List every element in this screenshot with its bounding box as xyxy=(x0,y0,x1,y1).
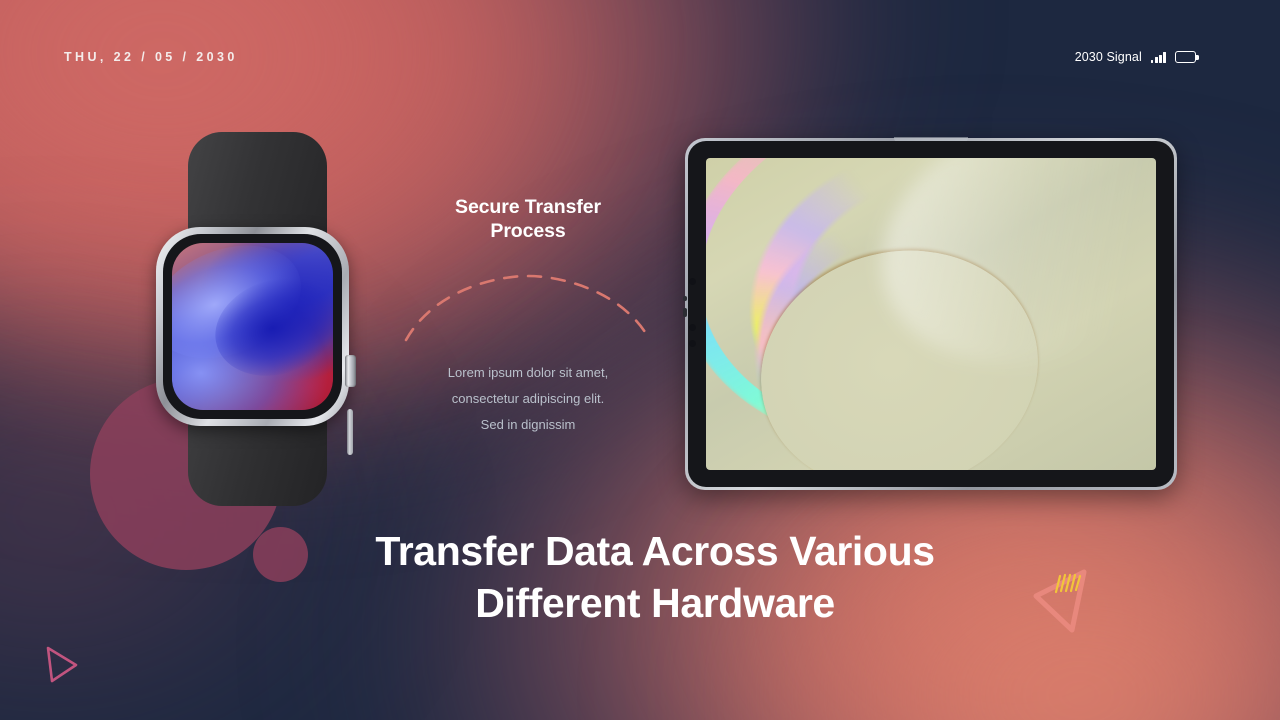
decor-circle-small xyxy=(253,527,308,582)
section-heading: Secure Transfer Process xyxy=(398,196,658,243)
triangle-outline-left-pointing xyxy=(1026,560,1096,645)
presentation-slide: THU, 22 / 05 / 2030 2030 Signal xyxy=(0,0,1280,720)
tablet-mic xyxy=(683,308,687,317)
tablet-camera-icon xyxy=(689,278,696,285)
headline: Transfer Data Across Various Different H… xyxy=(310,525,1000,629)
status-bar: 2030 Signal xyxy=(1075,50,1196,64)
battery-icon xyxy=(1175,51,1196,63)
watch-side-button[interactable] xyxy=(347,409,353,455)
tablet-screen[interactable] xyxy=(706,158,1156,470)
dashed-arc-icon xyxy=(400,272,656,347)
watch-crown-icon[interactable] xyxy=(345,355,356,387)
watch-case xyxy=(156,227,349,426)
triangle-right-icon xyxy=(40,640,88,688)
headline-line-2: Different Hardware xyxy=(310,577,1000,629)
triangle-left-icon xyxy=(1026,560,1096,640)
tablet-volume-up-button[interactable] xyxy=(689,324,696,331)
status-label: 2030 Signal xyxy=(1075,50,1142,64)
body-copy-line-2: consectetur adipiscing elit. xyxy=(398,386,658,412)
watch-bezel xyxy=(163,234,342,419)
section-body-copy: Lorem ipsum dolor sit amet, consectetur … xyxy=(398,360,658,438)
date-label: THU, 22 / 05 / 2030 xyxy=(64,50,238,64)
section-title-line-1: Secure Transfer xyxy=(398,196,658,220)
body-copy-line-1: Lorem ipsum dolor sit amet, xyxy=(398,360,658,386)
tablet-volume-down-button[interactable] xyxy=(689,340,696,347)
section-title-line-2: Process xyxy=(398,220,658,244)
watch-screen[interactable] xyxy=(172,243,333,410)
smartwatch-device xyxy=(150,132,365,508)
dashed-arc-divider xyxy=(400,272,656,347)
tablet-bezel xyxy=(688,141,1174,487)
headline-line-1: Transfer Data Across Various xyxy=(310,525,1000,577)
tablet-device xyxy=(685,138,1177,490)
tablet-frame xyxy=(685,138,1177,490)
signal-bars-icon xyxy=(1151,51,1166,63)
tablet-sensor xyxy=(683,296,687,301)
body-copy-line-3: Sed in dignissim xyxy=(398,412,658,438)
triangle-outline-right-pointing xyxy=(40,640,88,693)
